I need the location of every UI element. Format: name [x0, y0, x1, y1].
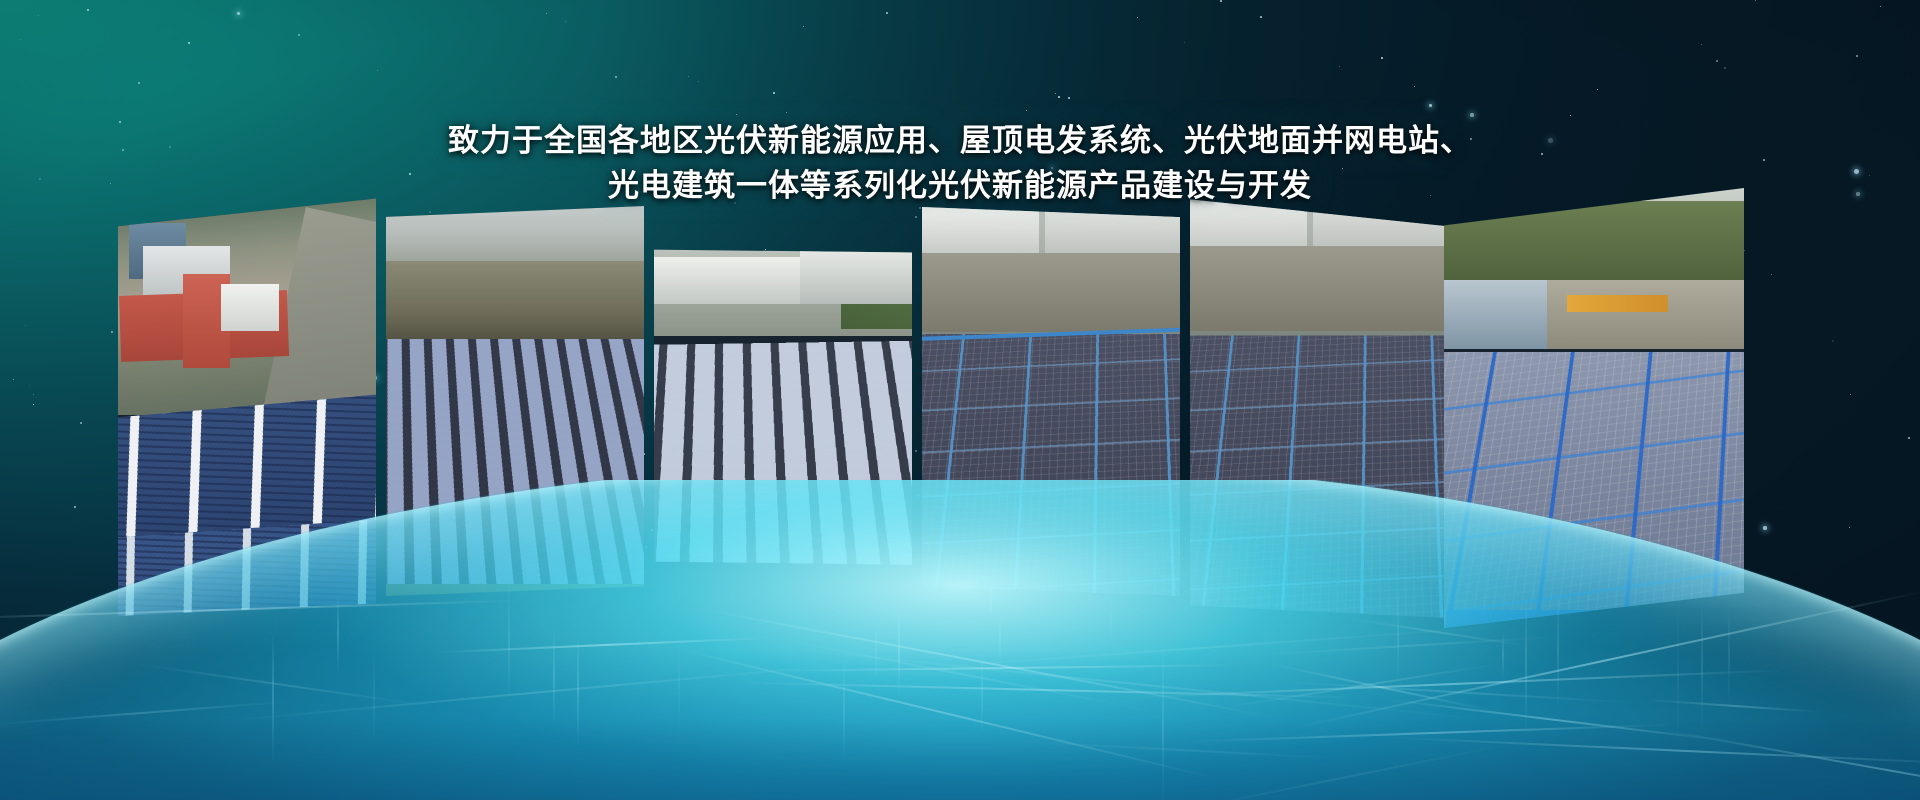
photo-5-yard — [1547, 280, 1744, 349]
photo-5-vehicles — [1567, 295, 1668, 312]
photo-5-treeline — [1444, 201, 1744, 290]
photo-3-building-2 — [800, 250, 912, 304]
headline-line-2: 光电建筑一体等系列化光伏新能源产品建设与开发 — [0, 163, 1920, 208]
solar-energy-hero-banner: 致力于全国各地区光伏新能源应用、屋顶电发系统、光伏地面并网电站、 光电建筑一体等… — [0, 0, 1920, 800]
headline: 致力于全国各地区光伏新能源应用、屋顶电发系统、光伏地面并网电站、 光电建筑一体等… — [0, 118, 1920, 208]
photo-5-shed — [1444, 280, 1547, 349]
photo-2-ground-strip — [386, 261, 644, 348]
photo-4-yard — [922, 253, 1180, 331]
headline-line-1: 致力于全国各地区光伏新能源应用、屋顶电发系统、光伏地面并网电站、 — [0, 118, 1920, 163]
bottom-haze — [0, 650, 1920, 800]
glowing-earth-arc — [0, 480, 1920, 800]
photo-4-warehouse-1 — [922, 207, 1039, 253]
photo-1-white-building — [221, 284, 279, 331]
photo-5a-yard — [1190, 246, 1448, 331]
photo-3-building — [654, 257, 800, 304]
photo-4-warehouse-2 — [1045, 207, 1180, 258]
